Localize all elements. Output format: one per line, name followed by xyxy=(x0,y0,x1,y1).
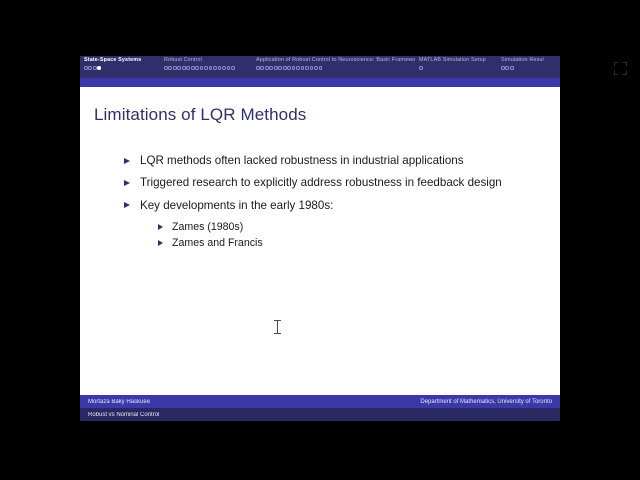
nav-section-2[interactable]: Application of Robust Control to Neurosc… xyxy=(252,56,415,78)
sub-bullet-item: Zames (1980s) xyxy=(158,220,554,234)
nav-dot[interactable] xyxy=(505,66,509,70)
bullet-text: Key developments in the early 1980s: xyxy=(140,198,333,213)
nav-dot[interactable] xyxy=(419,66,423,70)
footer-institute: Department of Mathematics, University of… xyxy=(420,399,560,405)
nav-dot[interactable] xyxy=(310,66,314,70)
nav-dot[interactable] xyxy=(200,66,204,70)
nav-dot[interactable] xyxy=(84,66,88,70)
nav-section-title: State-Space Systems xyxy=(80,58,160,63)
sub-bullet-text: Zames and Francis xyxy=(172,236,263,250)
nav-dot[interactable] xyxy=(173,66,177,70)
nav-dot[interactable] xyxy=(314,66,318,70)
fullscreen-corner-bottom-left xyxy=(614,71,618,75)
nav-section-dots[interactable] xyxy=(80,66,160,70)
fullscreen-corner-bottom-right xyxy=(623,71,627,75)
nav-dot[interactable] xyxy=(164,66,168,70)
fullscreen-icon[interactable] xyxy=(614,62,627,75)
nav-dot[interactable] xyxy=(182,66,186,70)
nav-dot[interactable] xyxy=(283,66,287,70)
nav-dot[interactable] xyxy=(213,66,217,70)
nav-dot[interactable] xyxy=(501,66,505,70)
nav-section-0[interactable]: State-Space Systems xyxy=(80,56,160,78)
nav-dot[interactable] xyxy=(195,66,199,70)
triangle-bullet-icon xyxy=(124,153,134,164)
nav-dot[interactable] xyxy=(218,66,222,70)
nav-dot[interactable] xyxy=(296,66,300,70)
bullet-text: Triggered research to explicitly address… xyxy=(140,175,502,190)
nav-dot[interactable] xyxy=(287,66,291,70)
nav-dot[interactable] xyxy=(97,66,101,70)
footline-title-row: Robust vs Nominal Control xyxy=(80,408,560,421)
nav-dot[interactable] xyxy=(510,66,514,70)
nav-dot[interactable] xyxy=(93,66,97,70)
headline-accent-band xyxy=(80,78,560,87)
nav-dot[interactable] xyxy=(168,66,172,70)
slide-body: LQR methods often lacked robustness in i… xyxy=(80,125,560,250)
nav-dot[interactable] xyxy=(227,66,231,70)
nav-dot[interactable] xyxy=(301,66,305,70)
bullet-text: LQR methods often lacked robustness in i… xyxy=(140,153,464,168)
footer-author: Mortaza Baky Haskuee xyxy=(80,399,420,405)
nav-dot[interactable] xyxy=(292,66,296,70)
nav-section-4[interactable]: Simulation Resul xyxy=(497,56,560,78)
bullet-item: LQR methods often lacked robustness in i… xyxy=(124,153,520,168)
bullet-item: Key developments in the early 1980s: xyxy=(124,198,520,213)
footline-author-row: Mortaza Baky Haskuee Department of Mathe… xyxy=(80,395,560,408)
nav-dot[interactable] xyxy=(274,66,278,70)
nav-section-title: Application of Robust Control to Neurosc… xyxy=(252,58,415,63)
nav-dot[interactable] xyxy=(204,66,208,70)
nav-dot[interactable] xyxy=(260,66,264,70)
footer-title: Robust vs Nominal Control xyxy=(80,412,560,418)
nav-dot[interactable] xyxy=(186,66,190,70)
nav-section-1[interactable]: Robust Control xyxy=(160,56,252,78)
fullscreen-corner-top-right xyxy=(623,62,627,66)
nav-section-title: Simulation Resul xyxy=(497,58,560,63)
nav-dot[interactable] xyxy=(177,66,181,70)
nav-dot[interactable] xyxy=(269,66,273,70)
sub-bullet-text: Zames (1980s) xyxy=(172,220,243,234)
nav-dot[interactable] xyxy=(191,66,195,70)
bullet-item: Triggered research to explicitly address… xyxy=(124,175,520,190)
nav-dot[interactable] xyxy=(278,66,282,70)
nav-dot[interactable] xyxy=(88,66,92,70)
frame-title: Limitations of LQR Methods xyxy=(80,87,560,125)
nav-dot[interactable] xyxy=(265,66,269,70)
sub-bullet-list: Zames (1980s)Zames and Francis xyxy=(158,220,560,250)
nav-section-dots[interactable] xyxy=(160,66,252,70)
nav-section-dots[interactable] xyxy=(415,66,497,70)
nav-section-dots[interactable] xyxy=(252,66,415,70)
nav-dot[interactable] xyxy=(209,66,213,70)
nav-dot[interactable] xyxy=(256,66,260,70)
beamer-footline: Mortaza Baky Haskuee Department of Mathe… xyxy=(80,395,560,421)
nav-dot[interactable] xyxy=(305,66,309,70)
triangle-bullet-icon xyxy=(124,198,134,209)
nav-section-3[interactable]: MATLAB Simulation Setup xyxy=(415,56,497,78)
nav-dot[interactable] xyxy=(319,66,323,70)
video-player-viewport: State-Space SystemsRobust ControlApplica… xyxy=(0,0,640,480)
nav-dot[interactable] xyxy=(231,66,235,70)
nav-dot[interactable] xyxy=(222,66,226,70)
fullscreen-corner-top-left xyxy=(614,62,618,66)
beamer-headline-navigation: State-Space SystemsRobust ControlApplica… xyxy=(80,56,560,78)
presentation-slide: State-Space SystemsRobust ControlApplica… xyxy=(80,56,560,421)
nav-section-dots[interactable] xyxy=(497,66,560,70)
triangle-bullet-icon xyxy=(124,175,134,186)
nav-section-title: Robust Control xyxy=(160,58,252,63)
triangle-bullet-icon xyxy=(158,220,167,230)
triangle-bullet-icon xyxy=(158,236,167,246)
sub-bullet-item: Zames and Francis xyxy=(158,236,554,250)
nav-section-title: MATLAB Simulation Setup xyxy=(415,58,497,63)
